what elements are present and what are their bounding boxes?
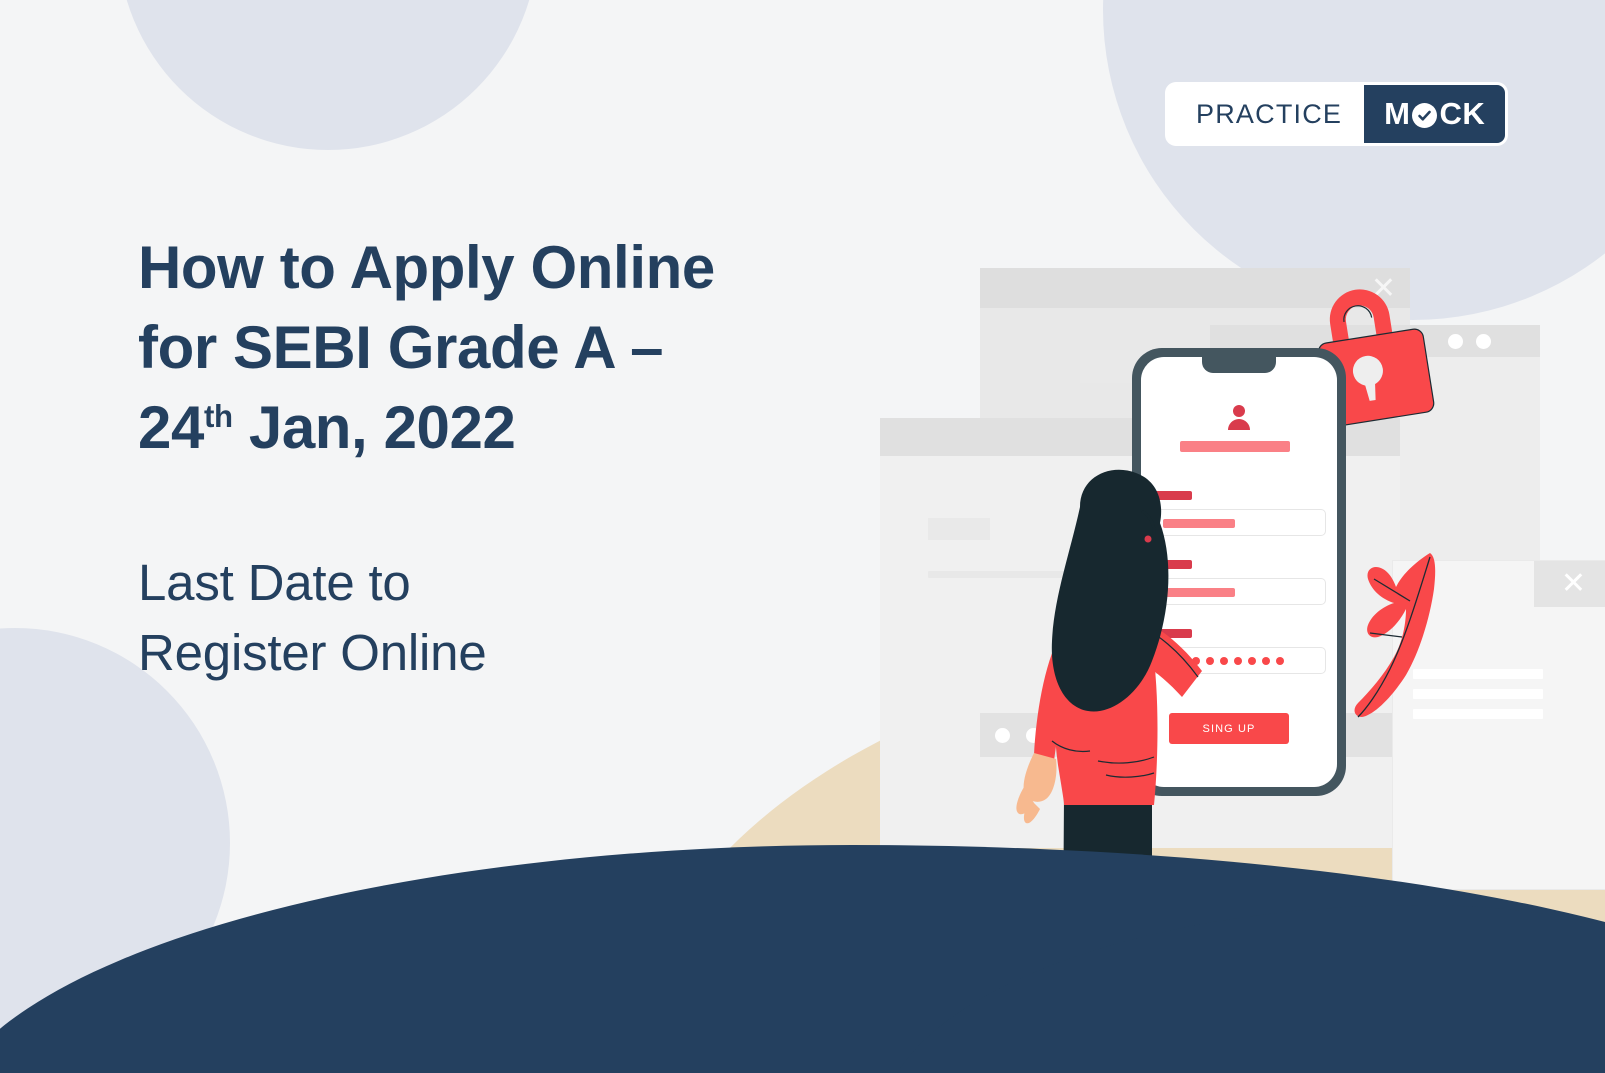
- logo-practice-text: PRACTICE: [1168, 85, 1364, 143]
- signup-button-label: SING UP: [1203, 723, 1256, 735]
- phone-notch: [1202, 357, 1276, 373]
- headline-line-3: 24th Jan, 2022: [138, 388, 898, 468]
- placeholder-block: [928, 518, 990, 540]
- page-subtitle: Last Date to Register Online: [138, 548, 738, 689]
- headline-line-1: How to Apply Online: [138, 228, 898, 308]
- leaf-icon: [1348, 545, 1458, 725]
- decorative-circle-top-left: [118, 0, 538, 150]
- subtitle-line-1: Last Date to: [138, 548, 738, 618]
- page-title: How to Apply Online for SEBI Grade A – 2…: [138, 228, 898, 467]
- subtitle-line-2: Register Online: [138, 618, 738, 688]
- window-dot: [1448, 334, 1463, 349]
- headline-line-2: for SEBI Grade A –: [138, 308, 898, 388]
- window-dot: [1476, 334, 1491, 349]
- logo-mock-block: M CK: [1364, 85, 1505, 143]
- headline-date-ordinal: th: [204, 399, 233, 434]
- close-x-icon[interactable]: ✕: [1561, 569, 1586, 599]
- practicemock-logo[interactable]: PRACTICE M CK: [1168, 85, 1505, 143]
- user-icon: [1225, 403, 1253, 436]
- headline-date-rest: Jan, 2022: [233, 394, 516, 461]
- check-circle-icon: [1412, 103, 1437, 128]
- title-bar-graphic: [1180, 441, 1290, 452]
- headline-date-number: 24: [138, 394, 204, 461]
- poster-canvas: ✕ ✕: [0, 0, 1605, 1073]
- logo-mock-ck: CK: [1439, 96, 1485, 132]
- logo-mock-m: M: [1384, 96, 1410, 132]
